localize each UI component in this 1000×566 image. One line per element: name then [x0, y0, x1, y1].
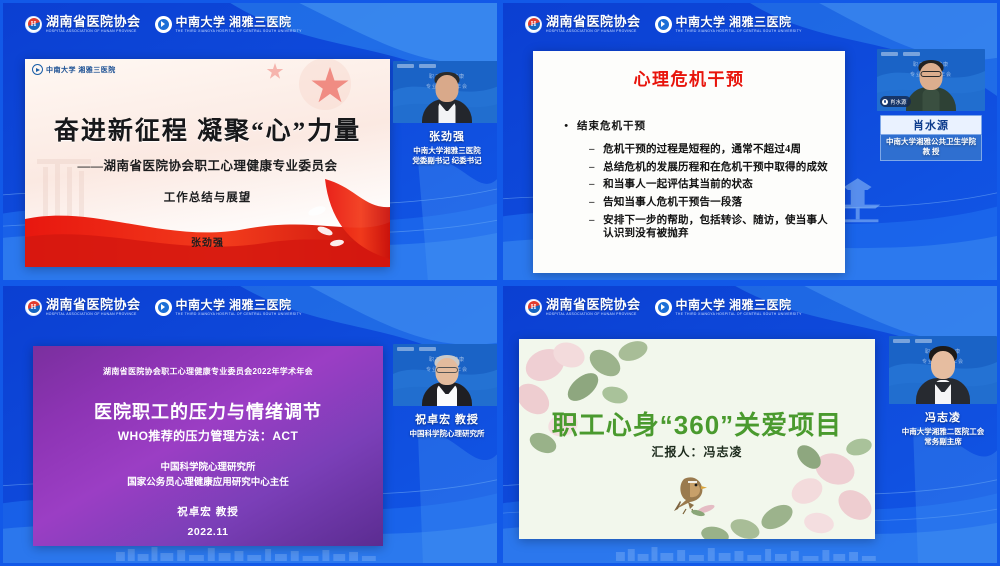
slide2-sub-bullets: 危机干预的过程是短程的，通常不超过4周 总结危机的发展历程和在危机干预中取得的成…	[589, 143, 828, 245]
association-name-cn: 湖南省医院协会	[46, 15, 141, 28]
xiangya-third-hospital-logo: 中南大学 湘雅三医院 THE THIRD XIANGYA HOSPITAL OF…	[155, 16, 302, 33]
slide3-date: 2022.11	[33, 526, 383, 538]
xiangya-third-hospital-logo: 中南大学 湘雅三医院 THE THIRD XIANGYA HOSPITAL OF…	[655, 299, 802, 316]
hospital-emblem-icon	[655, 16, 672, 33]
video-corner-logos	[893, 339, 932, 343]
shared-slide-1[interactable]: 中南大学 湘雅三医院 奋进新征程 凝聚“心”力量 ——湖南省医院协会职工心理健康…	[25, 59, 390, 267]
participant-panel-2[interactable]: 湖南省医院协会 HOSPITAL ASSOCIATION OF HUNAN PR…	[500, 0, 1000, 283]
speaker-org-line2: 党委副书记 纪委书记	[412, 156, 481, 165]
panel-header-logos: 湖南省医院协会 HOSPITAL ASSOCIATION OF HUNAN PR…	[25, 15, 302, 33]
hospital-name-en: THE THIRD XIANGYA HOSPITAL OF CENTRAL SO…	[676, 30, 802, 33]
panel-header-logos: 湖南省医院协会 HOSPITAL ASSOCIATION OF HUNAN PR…	[525, 298, 802, 316]
mic-badge: 肖水源	[880, 96, 911, 107]
list-item: 和当事人一起评估其当前的状态	[589, 178, 828, 192]
hospital-emblem-icon	[155, 16, 172, 33]
speaker-card-3[interactable]: 职工心理健康专业委员会年会 祝卓宏 教授 中国科学院心理研究所	[393, 344, 500, 439]
slide1-title: 奋进新征程 凝聚“心”力量	[25, 111, 390, 147]
xiangya-third-hospital-logo: 中南大学 湘雅三医院 THE THIRD XIANGYA HOSPITAL OF…	[655, 16, 802, 33]
mic-badge-label: 肖水源	[890, 98, 907, 106]
slide2-main-bullet: 结束危机干预	[564, 118, 646, 133]
panel-header-logos: 湖南省医院协会 HOSPITAL ASSOCIATION OF HUNAN PR…	[525, 15, 802, 33]
speaker-avatar	[419, 71, 475, 123]
hospital-name-cn: 中南大学 湘雅三医院	[176, 16, 302, 28]
speaker-org-line1: 中南大学湘雅公共卫生学院	[886, 137, 976, 146]
association-name-cn: 湖南省医院协会	[546, 298, 641, 311]
speaker-org: 中南大学湘雅公共卫生学院 教 授	[880, 135, 982, 161]
shared-slide-2[interactable]: 心理危机干预 结束危机干预 危机干预的过程是短程的，通常不超过4周 总结危机的发…	[533, 51, 845, 273]
speaker-avatar	[903, 59, 959, 111]
video-corner-logos	[881, 52, 920, 56]
speaker-org: 中国科学院心理研究所	[393, 429, 500, 439]
association-name-cn: 湖南省医院协会	[46, 298, 141, 311]
slide3-presenter: 祝卓宏 教授	[33, 504, 383, 519]
hunan-hospital-association-logo: 湖南省医院协会 HOSPITAL ASSOCIATION OF HUNAN PR…	[25, 298, 141, 316]
speaker-org-line1: 中南大学湘雅二医院工会	[902, 427, 985, 436]
slide3-org-line1: 中国科学院心理研究所	[160, 462, 255, 473]
slide1-presenter: 张劲强	[25, 234, 390, 249]
participant-panel-1[interactable]: 湖南省医院协会 HOSPITAL ASSOCIATION OF HUNAN PR…	[0, 0, 500, 283]
association-name-en: HOSPITAL ASSOCIATION OF HUNAN PROVINCE	[546, 30, 641, 33]
slide4-title: 职工心身“360”关爱项目	[519, 405, 875, 442]
speaker-org-line1: 中国科学院心理研究所	[410, 429, 485, 438]
list-item: 告知当事人危机干预告一段落	[589, 196, 828, 210]
slide-corner-logo-text: 中南大学 湘雅三医院	[46, 65, 116, 75]
hunan-hospital-association-logo: 湖南省医院协会 HOSPITAL ASSOCIATION OF HUNAN PR…	[525, 298, 641, 316]
speaker-org: 中南大学湘雅二医院工会 常务副主席	[889, 427, 997, 447]
speaker-org-line2: 教 授	[923, 147, 940, 156]
speaker-org-line1: 中南大学湘雅三医院	[413, 146, 481, 155]
association-emblem-icon	[525, 16, 542, 33]
hospital-name-cn: 中南大学 湘雅三医院	[676, 16, 802, 28]
slide3-conference-title: 湖南省医院协会职工心理健康专业委员会2022年学术年会	[33, 366, 383, 377]
hunan-hospital-association-logo: 湖南省医院协会 HOSPITAL ASSOCIATION OF HUNAN PR…	[25, 15, 141, 33]
video-corner-logos	[397, 64, 436, 68]
speaker-name: 张劲强	[393, 128, 500, 144]
hospital-emblem-icon	[32, 64, 43, 75]
shared-slide-3[interactable]: 湖南省医院协会职工心理健康专业委员会2022年学术年会 医院职工的压力与情绪调节…	[33, 346, 383, 546]
speaker-video-tile[interactable]: 职工心理健康专业委员会年会	[393, 61, 500, 123]
hunan-hospital-association-logo: 湖南省医院协会 HOSPITAL ASSOCIATION OF HUNAN PR…	[525, 15, 641, 33]
speaker-name: 冯志凌	[889, 409, 997, 425]
skyline-watermark	[612, 545, 889, 561]
shared-slide-4[interactable]: 职工心身“360”关爱项目 汇报人：冯志凌	[519, 339, 875, 539]
slide-corner-logo: 中南大学 湘雅三医院	[32, 64, 116, 75]
speaker-name: 肖水源	[880, 115, 982, 135]
speaker-name: 祝卓宏 教授	[393, 411, 500, 427]
speaker-video-tile[interactable]: 职工心理健康专业委员会年会	[393, 344, 500, 406]
microphone-icon	[882, 99, 888, 105]
hospital-name-en: THE THIRD XIANGYA HOSPITAL OF CENTRAL SO…	[176, 30, 302, 33]
list-item: 危机干预的过程是短程的，通常不超过4周	[589, 143, 828, 157]
association-name-cn: 湖南省医院协会	[546, 15, 641, 28]
speaker-video-tile[interactable]: 职工心理健康专业委员会年会 肖水源	[877, 49, 985, 111]
association-emblem-icon	[25, 16, 42, 33]
slide1-line3: 工作总结与展望	[25, 189, 390, 205]
speaker-org-line2: 常务副主席	[924, 437, 962, 446]
speaker-card-2[interactable]: 职工心理健康专业委员会年会 肖水源 肖水源 中南大学湘雅公共卫生学院 教 授	[877, 49, 985, 161]
speaker-card-4[interactable]: 职工心理健康专业委员会年会 冯志凌 中南大学湘雅二医院工会 常务副主席	[889, 336, 997, 447]
hospital-name-en: THE THIRD XIANGYA HOSPITAL OF CENTRAL SO…	[176, 313, 302, 316]
association-name-en: HOSPITAL ASSOCIATION OF HUNAN PROVINCE	[46, 313, 141, 316]
list-item: 总结危机的发展历程和在危机干预中取得的成效	[589, 161, 828, 175]
association-name-en: HOSPITAL ASSOCIATION OF HUNAN PROVINCE	[46, 30, 141, 33]
hospital-name-cn: 中南大学 湘雅三医院	[676, 299, 802, 311]
hospital-emblem-icon	[155, 299, 172, 316]
slide3-org: 中国科学院心理研究所 国家公务员心理健康应用研究中心主任	[33, 461, 383, 490]
list-item: 安排下一步的帮助，包括转诊、随访，使当事人认识到没有被抛弃	[589, 214, 828, 241]
speaker-avatar	[912, 346, 974, 404]
slide1-subtitle: ——湖南省医院协会职工心理健康专业委员会	[25, 155, 390, 174]
slide3-subtitle: WHO推荐的压力管理方法：ACT	[33, 427, 383, 444]
association-name-en: HOSPITAL ASSOCIATION OF HUNAN PROVINCE	[546, 313, 641, 316]
bird-illustration	[666, 471, 728, 522]
speaker-avatar	[419, 354, 475, 406]
hospital-emblem-icon	[655, 299, 672, 316]
panel-header-logos: 湖南省医院协会 HOSPITAL ASSOCIATION OF HUNAN PR…	[25, 298, 302, 316]
video-corner-logos	[397, 347, 436, 351]
hospital-name-en: THE THIRD XIANGYA HOSPITAL OF CENTRAL SO…	[676, 313, 802, 316]
speaker-org: 中南大学湘雅三医院 党委副书记 纪委书记	[393, 146, 500, 166]
participant-panel-3[interactable]: 湖南省医院协会 HOSPITAL ASSOCIATION OF HUNAN PR…	[0, 283, 500, 566]
xiangya-third-hospital-logo: 中南大学 湘雅三医院 THE THIRD XIANGYA HOSPITAL OF…	[155, 299, 302, 316]
association-emblem-icon	[25, 299, 42, 316]
video-conference-grid: 湖南省医院协会 HOSPITAL ASSOCIATION OF HUNAN PR…	[0, 0, 1000, 566]
slide4-subtitle: 汇报人：冯志凌	[519, 443, 875, 460]
speaker-card-1[interactable]: 职工心理健康专业委员会年会 张劲强 中南大学湘雅三医院 党委副书记 纪委书记	[393, 61, 500, 166]
participant-panel-4[interactable]: 湖南省医院协会 HOSPITAL ASSOCIATION OF HUNAN PR…	[500, 283, 1000, 566]
speaker-video-tile[interactable]: 职工心理健康专业委员会年会	[889, 336, 997, 404]
slide2-title: 心理危机干预	[533, 65, 845, 90]
slide3-title: 医院职工的压力与情绪调节	[33, 398, 383, 424]
skyline-watermark	[112, 545, 389, 561]
association-emblem-icon	[525, 299, 542, 316]
hospital-name-cn: 中南大学 湘雅三医院	[176, 299, 302, 311]
slide3-org-line2: 国家公务员心理健康应用研究中心主任	[127, 477, 289, 488]
